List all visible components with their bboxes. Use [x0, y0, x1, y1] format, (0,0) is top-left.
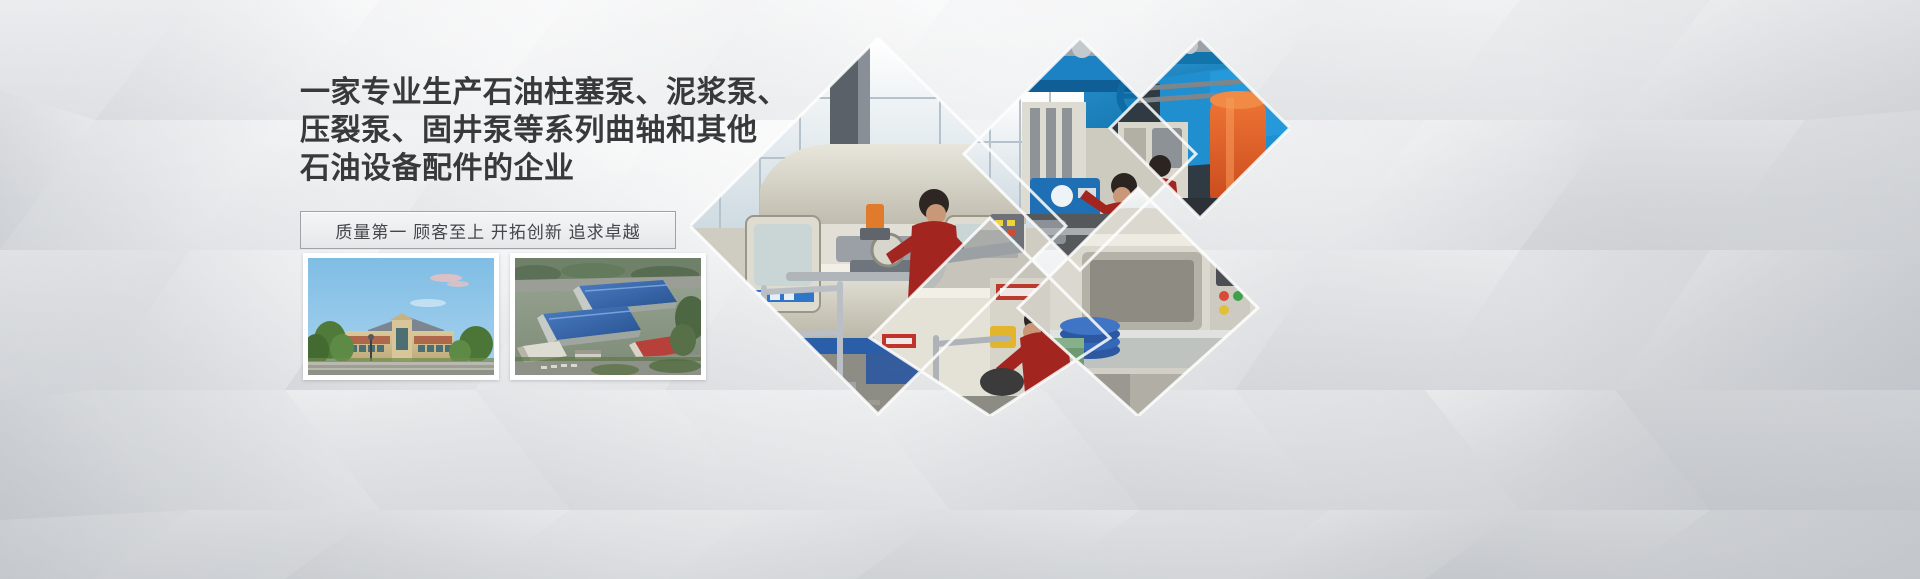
headline-line-3: 石油设备配件的企业 — [300, 150, 720, 188]
headline-line-2: 压裂泵、固井泵等系列曲轴和其他 — [300, 112, 720, 150]
factory-aerial-photo-image — [515, 258, 701, 375]
office-building-photo-image — [308, 258, 494, 375]
slogan-box: 质量第一 顾客至上 开拓创新 追求卓越 — [300, 211, 676, 249]
hero-text-column: 一家专业生产石油柱塞泵、泥浆泵、 压裂泵、固井泵等系列曲轴和其他 石油设备配件的… — [300, 74, 720, 249]
headline-line-1: 一家专业生产石油柱塞泵、泥浆泵、 — [300, 74, 720, 112]
company-hero-banner: 一家专业生产石油柱塞泵、泥浆泵、 压裂泵、固井泵等系列曲轴和其他 石油设备配件的… — [0, 0, 1920, 579]
company-photo-strip — [303, 253, 706, 380]
workshop-diamond-collage — [690, 38, 1290, 416]
office-building-photo[interactable] — [303, 253, 499, 380]
page-title: 一家专业生产石油柱塞泵、泥浆泵、 压裂泵、固井泵等系列曲轴和其他 石油设备配件的… — [300, 74, 720, 188]
factory-aerial-photo[interactable] — [510, 253, 706, 380]
slogan-text: 质量第一 顾客至上 开拓创新 追求卓越 — [335, 218, 640, 243]
